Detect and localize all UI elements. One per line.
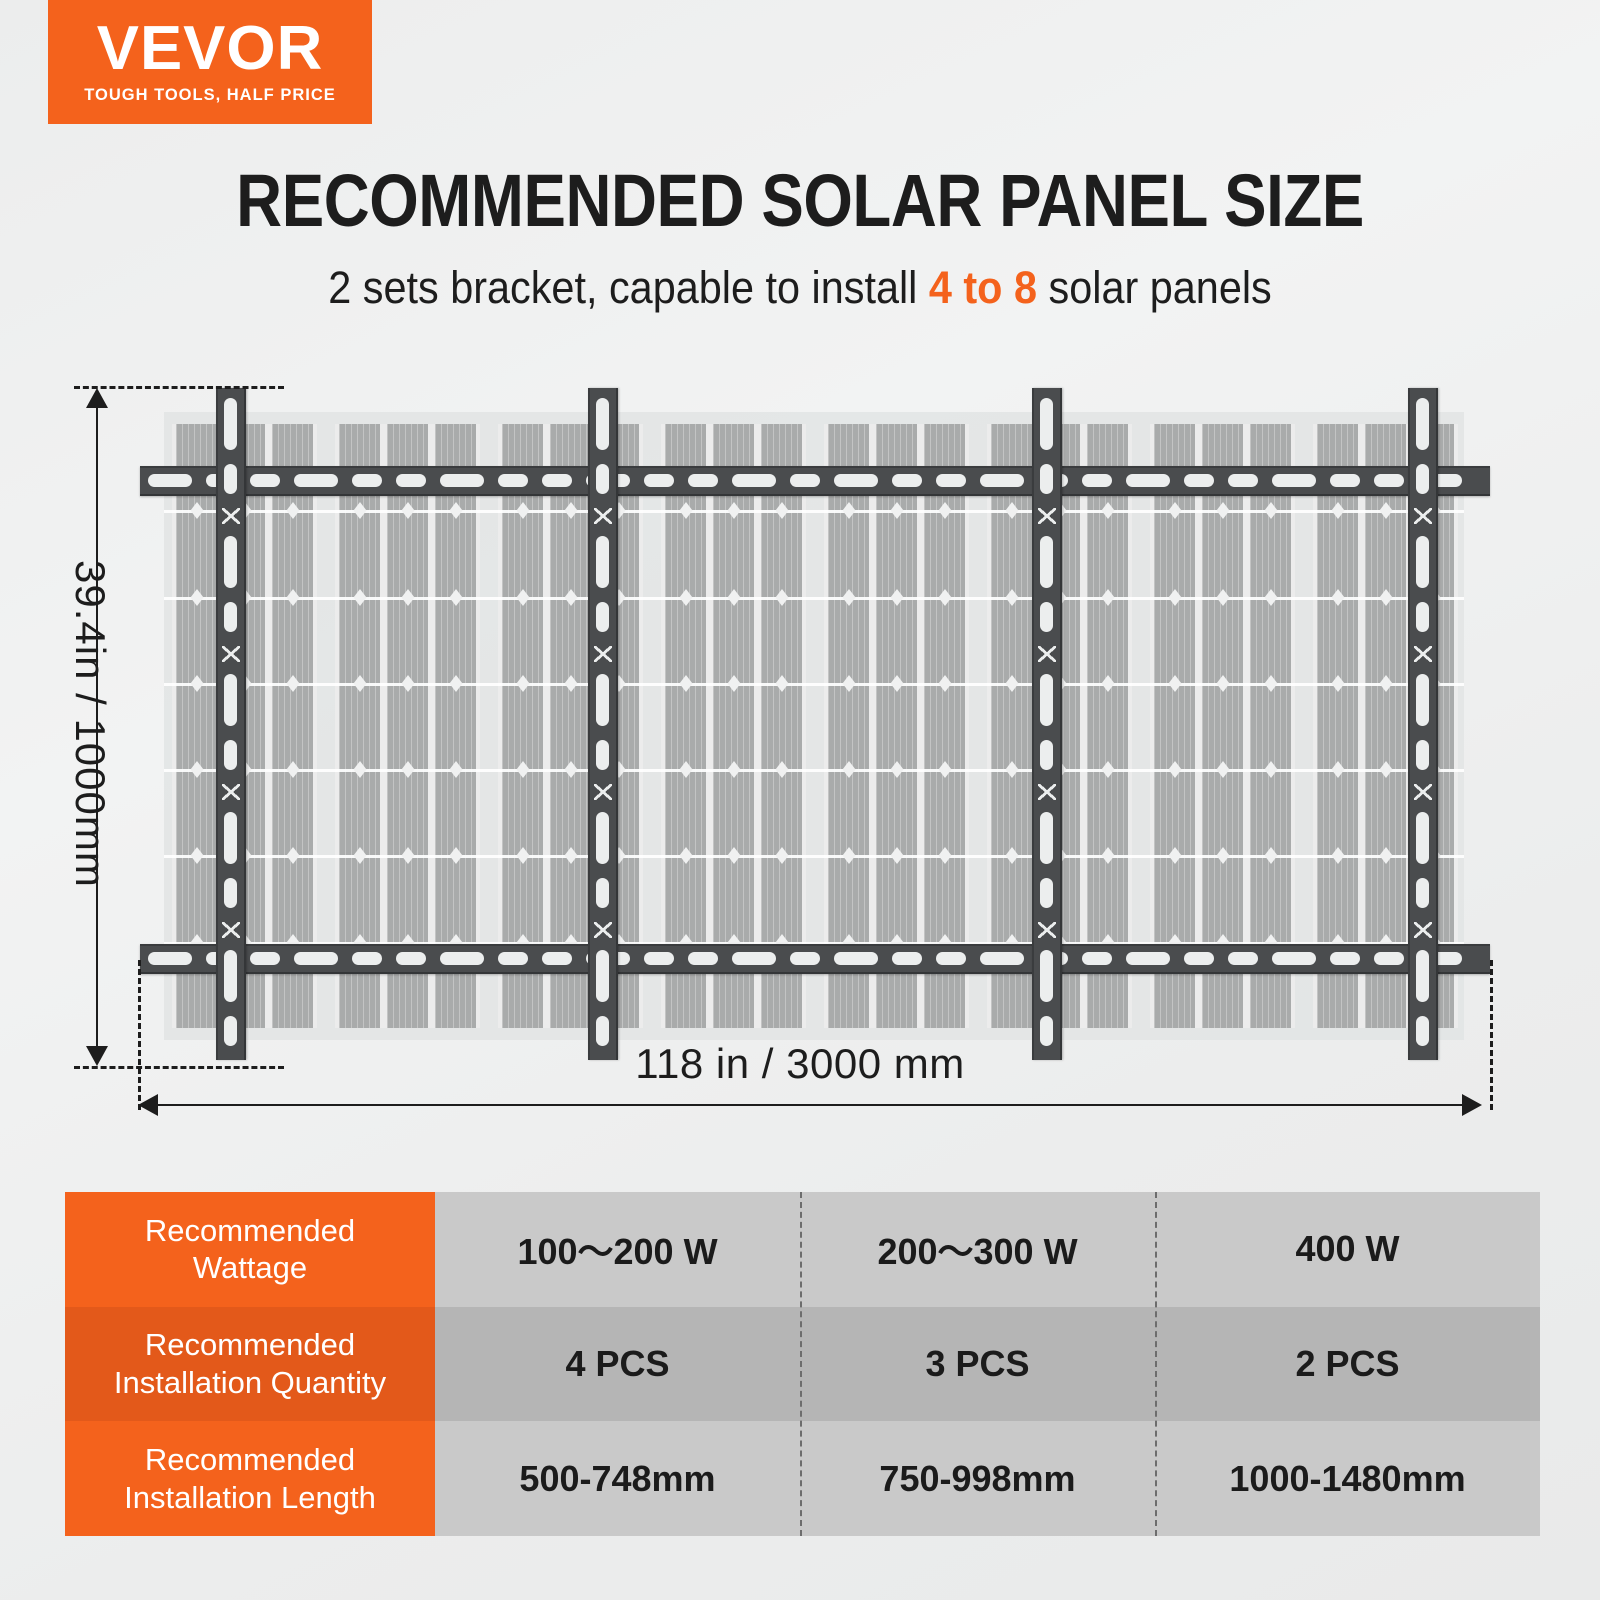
row-header-line1: Recommended [145,1213,355,1248]
bracket-cross-mark [594,922,612,938]
bracket-slot [1416,602,1429,632]
rail-slot [892,952,922,965]
bracket-slot [1416,878,1429,908]
horizontal-mounting-rail [140,466,1490,496]
bracket-slot [596,812,609,864]
bracket-slot [1040,602,1053,632]
bracket-cross-mark [222,508,240,524]
bracket-cross-mark [1414,922,1432,938]
rail-slot [1272,474,1316,487]
bracket-slot [1040,536,1053,588]
solar-cell-column [1202,424,1243,1028]
bracket-slot [1416,950,1429,1002]
rail-slot [1330,952,1360,965]
rail-slot [250,474,280,487]
rail-slot [396,474,426,487]
solar-cell-column [1250,424,1291,1028]
rail-slot [1126,474,1170,487]
rail-slot [498,952,528,965]
bracket-cross-mark [1414,646,1432,662]
rail-slot [732,952,776,965]
bracket-slot [596,950,609,1002]
solar-cell-column [387,424,428,1028]
bracket-cross-mark [594,646,612,662]
table-cell: 3 PCS [800,1307,1155,1422]
horizontal-mounting-rail [140,944,1490,974]
spec-table: RecommendedWattage 100〜200 W 200〜300 W 4… [65,1192,1540,1536]
rail-slot [352,952,382,965]
rail-slot [294,952,338,965]
table-cell: 2 PCS [1155,1307,1540,1422]
row-header-line1: Recommended [145,1327,355,1362]
rail-slot [834,952,878,965]
height-dim-arrow-top [86,388,108,408]
bracket-slot [596,464,609,494]
solar-cell-column [991,424,1032,1028]
bracket-slot [1040,674,1053,726]
rail-slot [1374,474,1404,487]
solar-cell-column [1365,424,1406,1028]
vertical-mounting-bracket [588,388,618,1060]
bracket-slot [224,878,237,908]
table-cell: 1000-1480mm [1155,1421,1540,1536]
width-dim-arrow-right [1462,1094,1482,1116]
rail-slot [148,952,192,965]
table-cell: 400 W [1155,1192,1540,1307]
width-dimension-label: 118 in / 3000 mm [0,1040,1600,1088]
bracket-slot [224,398,237,450]
rail-slot [1330,474,1360,487]
bracket-slot [1416,812,1429,864]
bracket-slot [596,398,609,450]
solar-panel [661,424,806,1028]
rail-slot [688,952,718,965]
solar-cell-column [713,424,754,1028]
solar-panel [1150,424,1295,1028]
solar-cell-column [828,424,869,1028]
rail-slot [352,474,382,487]
bracket-slot [1416,464,1429,494]
rail-slot [498,474,528,487]
table-cell: 4 PCS [435,1307,800,1422]
rail-slot [440,952,484,965]
bracket-slot [1040,464,1053,494]
rail-slot [732,474,776,487]
bracket-cross-mark [1038,922,1056,938]
rail-slot [790,952,820,965]
rail-slot [1228,474,1258,487]
table-row-header: RecommendedWattage [65,1192,435,1307]
width-dim-line [150,1104,1480,1106]
row-header-line2: Installation Length [124,1480,376,1515]
table-row-header: RecommendedInstallation Length [65,1421,435,1536]
rail-slot [1184,952,1214,965]
solar-panel [335,424,480,1028]
solar-cell-column [924,424,965,1028]
bracket-slot [224,674,237,726]
rail-slot [542,474,572,487]
table-column-separator [800,1192,802,1536]
bracket-cross-mark [1038,784,1056,800]
bracket-slot [224,464,237,494]
rail-slot [542,952,572,965]
rail-slot [1184,474,1214,487]
bracket-slot [596,740,609,770]
rail-slot [396,952,426,965]
bracket-slot [224,740,237,770]
bracket-cross-mark [1038,508,1056,524]
rail-slot [1228,952,1258,965]
solar-cell-column [339,424,380,1028]
bracket-slot [224,536,237,588]
rail-slot [1374,952,1404,965]
rail-slot [1126,952,1170,965]
bracket-slot [1416,536,1429,588]
rail-slot [980,952,1024,965]
solar-cell-column [1317,424,1358,1028]
bracket-slot [1416,398,1429,450]
bracket-slot [224,950,237,1002]
solar-cell-column [272,424,313,1028]
row-header-line1: Recommended [145,1442,355,1477]
table-row-header: RecommendedInstallation Quantity [65,1307,435,1422]
bracket-cross-mark [222,646,240,662]
bracket-cross-mark [594,784,612,800]
bracket-slot [1416,740,1429,770]
solar-cell-column [876,424,917,1028]
height-dimension-label: 39.4in / 1000mm [66,560,114,888]
rail-slot [688,474,718,487]
rail-slot [1082,474,1112,487]
bracket-slot [1416,674,1429,726]
solar-cell-column [435,424,476,1028]
bracket-cross-mark [1038,646,1056,662]
bracket-cross-mark [594,508,612,524]
rail-slot [440,474,484,487]
rail-slot [936,474,966,487]
bracket-cross-mark [222,922,240,938]
rail-slot [148,474,192,487]
bracket-slot [1040,812,1053,864]
solar-cell-column [176,424,217,1028]
rail-slot [1272,952,1316,965]
table-cell: 100〜200 W [435,1192,800,1307]
solar-cell-column [502,424,543,1028]
table-cell: 500-748mm [435,1421,800,1536]
rail-slot [834,474,878,487]
rail-slot [644,474,674,487]
vertical-mounting-bracket [216,388,246,1060]
solar-cell-column [665,424,706,1028]
bracket-slot [224,602,237,632]
bracket-cross-mark [1414,508,1432,524]
width-dim-arrow-left [138,1094,158,1116]
rail-slot [892,474,922,487]
bracket-cross-mark [222,784,240,800]
table-cell: 750-998mm [800,1421,1155,1536]
bracket-slot [1040,878,1053,908]
bracket-slot [596,536,609,588]
bracket-slot [596,674,609,726]
row-header-line2: Installation Quantity [114,1365,386,1400]
rail-slot [294,474,338,487]
rail-slot [644,952,674,965]
rail-slot [250,952,280,965]
row-header-line2: Wattage [193,1250,307,1285]
rail-slot [936,952,966,965]
rail-slot [980,474,1024,487]
rail-slot [790,474,820,487]
solar-panel [824,424,969,1028]
solar-cell-column [1087,424,1128,1028]
vertical-mounting-bracket [1032,388,1062,1060]
solar-cell-column [550,424,591,1028]
rail-slot [1082,952,1112,965]
bracket-cross-mark [1414,784,1432,800]
vertical-mounting-bracket [1408,388,1438,1060]
solar-cell-column [1154,424,1195,1028]
bracket-slot [596,602,609,632]
solar-panel-diagram: 39.4in / 1000mm 118 in / 3000 mm [0,0,1600,1160]
table-cell: 200〜300 W [800,1192,1155,1307]
table-column-separator [1155,1192,1157,1536]
solar-cell-column [761,424,802,1028]
solar-panel [498,424,643,1028]
bracket-slot [1040,950,1053,1002]
bracket-slot [1040,398,1053,450]
bracket-slot [224,812,237,864]
bracket-slot [596,878,609,908]
bracket-slot [1040,740,1053,770]
